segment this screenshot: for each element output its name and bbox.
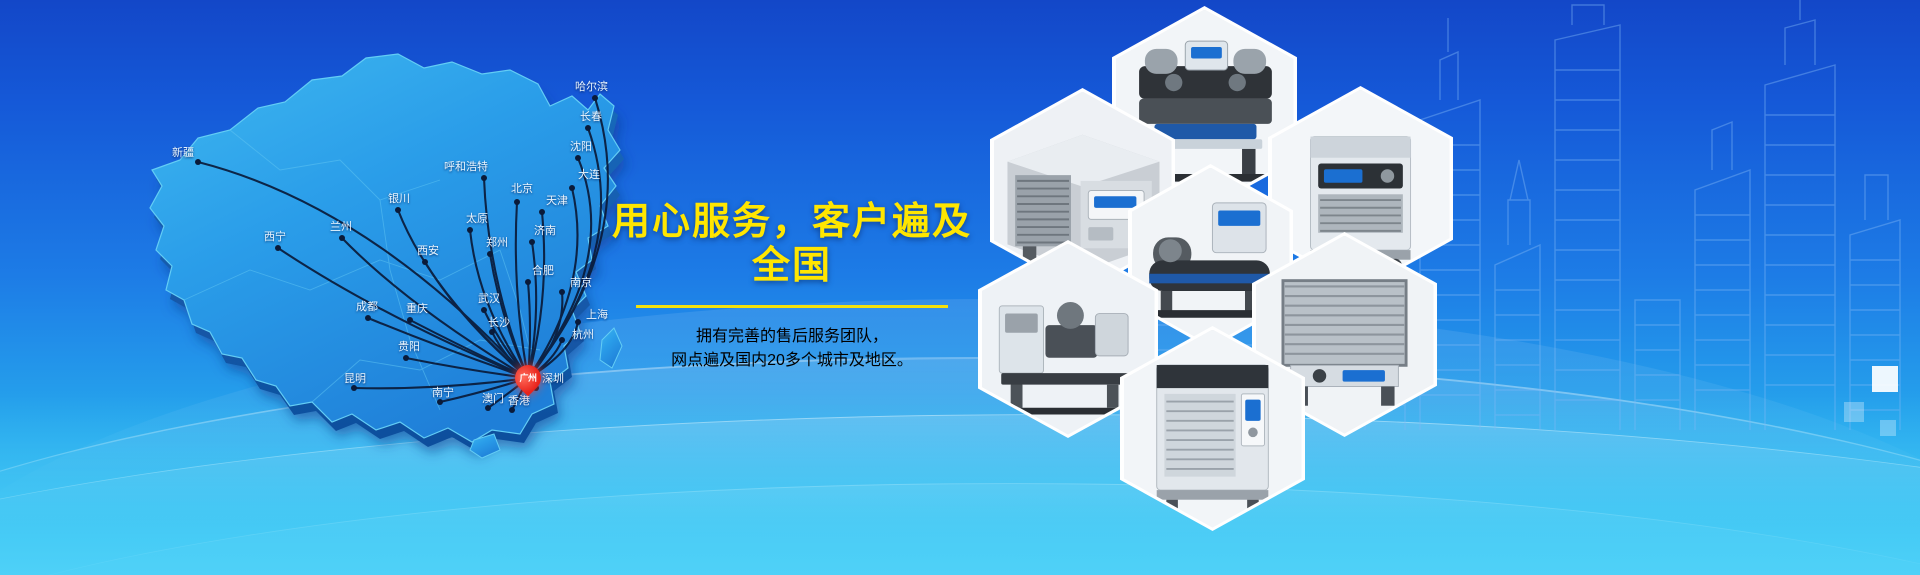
city-label: 成都 (356, 302, 378, 313)
city-dot (559, 289, 565, 295)
decor-square (1880, 420, 1896, 436)
city-label: 北京 (511, 184, 533, 195)
city-dot (509, 407, 515, 413)
city-dot (395, 207, 401, 213)
city-dot (351, 385, 357, 391)
city-dot (529, 239, 535, 245)
city-dot (365, 315, 371, 321)
city-dot (403, 355, 409, 361)
city-dot (569, 185, 575, 191)
title-divider (636, 305, 948, 308)
city-dot (195, 159, 201, 165)
city-label: 银川 (388, 194, 410, 205)
city-dot (407, 317, 413, 323)
city-label: 长春 (580, 112, 602, 123)
city-dot (487, 251, 493, 257)
city-label: 哈尔滨 (575, 82, 608, 93)
product-hex-gallery (960, 0, 1920, 575)
city-label: 天津 (546, 196, 568, 207)
city-label: 香港 (508, 396, 530, 407)
city-dot (592, 95, 598, 101)
city-dot (422, 259, 428, 265)
city-label: 沈阳 (570, 142, 592, 153)
city-label: 大连 (578, 170, 600, 181)
city-label: 新疆 (172, 148, 194, 159)
subtitle-line-1: 拥有完善的售后服务团队， (612, 322, 972, 346)
decor-square (1844, 402, 1864, 422)
city-label: 深圳 (542, 374, 564, 385)
city-dot (514, 199, 520, 205)
hub-marker-label: 广州 (515, 365, 541, 391)
city-dot (467, 227, 473, 233)
city-dot (559, 337, 565, 343)
banner-copy-block: 用心服务，客户遍及全国 拥有完善的售后服务团队， 网点遍及国内20多个城市及地区… (612, 200, 972, 386)
city-label: 呼和浩特 (444, 162, 488, 173)
subtitle-line-2: 网点遍及国内20多个城市及地区。 (612, 346, 972, 370)
city-dot (275, 245, 281, 251)
city-dot (485, 405, 491, 411)
city-dot (575, 155, 581, 161)
city-label: 澳门 (482, 394, 504, 405)
city-dot (481, 307, 487, 313)
city-dot (481, 175, 487, 181)
city-label: 西宁 (264, 232, 286, 243)
city-dot (339, 235, 345, 241)
banner-root: 新疆哈尔滨长春沈阳呼和浩特北京天津大连银川太原兰州西宁西安郑州济南合肥南京上海杭… (0, 0, 1920, 575)
city-label: 济南 (534, 226, 556, 237)
city-dot (539, 209, 545, 215)
city-label: 长沙 (488, 318, 510, 329)
city-label: 南宁 (432, 388, 454, 399)
city-label: 重庆 (406, 304, 428, 315)
city-dot (489, 329, 495, 335)
city-label: 武汉 (478, 294, 500, 305)
city-label: 太原 (466, 214, 488, 225)
city-label: 兰州 (330, 222, 352, 233)
city-label: 合肥 (532, 266, 554, 277)
city-label: 上海 (586, 310, 608, 321)
city-dot (525, 279, 531, 285)
city-dot (437, 399, 443, 405)
decor-square (1872, 366, 1898, 392)
city-label: 西安 (417, 246, 439, 257)
page-title: 用心服务，客户遍及全国 (612, 200, 972, 287)
city-label: 南京 (570, 278, 592, 289)
city-label: 杭州 (572, 330, 594, 341)
city-label: 贵阳 (398, 342, 420, 353)
city-dot (585, 125, 591, 131)
city-label: 郑州 (486, 238, 508, 249)
hub-marker-guangzhou[interactable]: 广州 (510, 360, 547, 397)
city-dot (575, 319, 581, 325)
city-label: 昆明 (344, 374, 366, 385)
